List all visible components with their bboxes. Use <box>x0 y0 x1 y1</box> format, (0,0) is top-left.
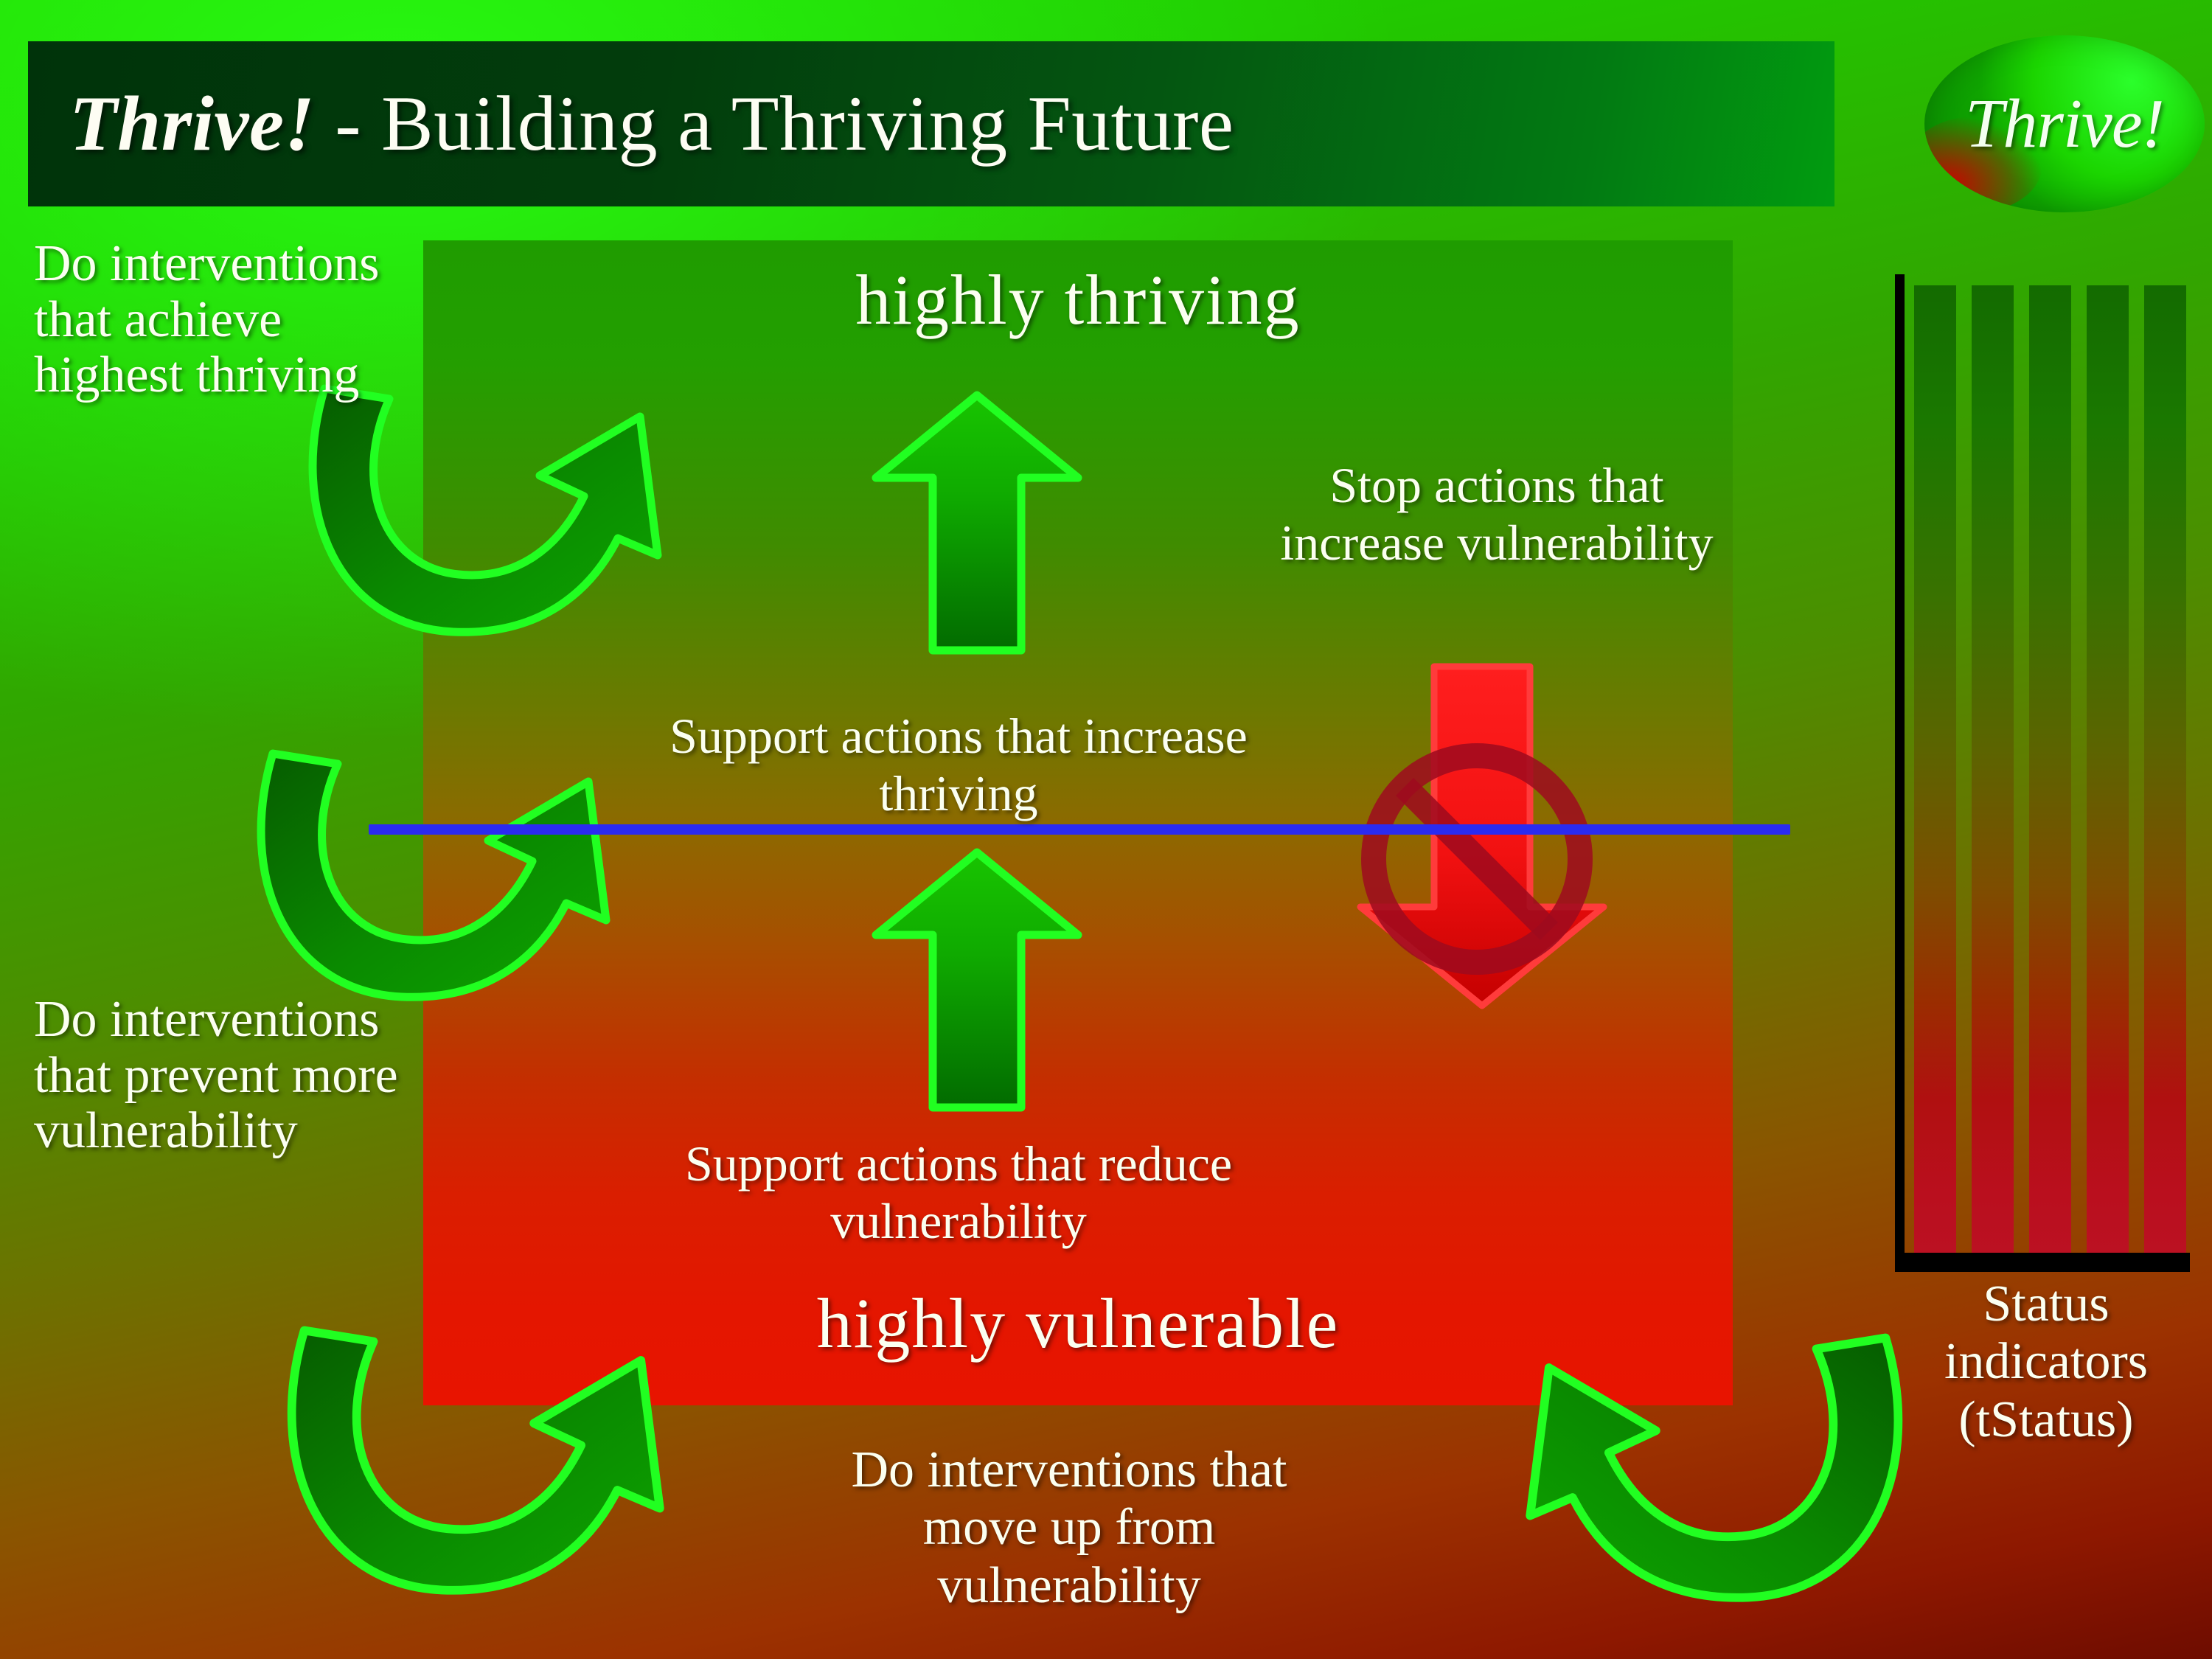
chart-y-axis <box>1895 274 1905 1262</box>
threshold-divider-line <box>369 824 1790 835</box>
no-entry-icon <box>1355 737 1599 981</box>
up-arrow-icon <box>870 848 1084 1113</box>
curved-u-arrow-icon <box>295 372 737 682</box>
status-indicators-caption: Status indicators (tStatus) <box>1888 1276 2205 1449</box>
label-stop-actions-increase-vulnerability: Stop actions that increase vulnerability <box>1246 457 1747 571</box>
page-title: Thrive! - Building a Thriving Future <box>28 79 1234 169</box>
status-bar <box>1972 285 2014 1253</box>
label-interventions-prevent-more-vulnerability: Do interventions that prevent more vulne… <box>34 992 403 1159</box>
status-bar <box>1914 285 1956 1253</box>
title-bar: Thrive! - Building a Thriving Future <box>28 41 1834 206</box>
label-support-increase-thriving: Support actions that increase thriving <box>649 708 1268 822</box>
up-arrow-icon <box>870 391 1084 656</box>
label-highly-vulnerable: highly vulnerable <box>423 1283 1733 1363</box>
label-support-reduce-vulnerability: Support actions that reduce vulnerabilit… <box>649 1135 1268 1250</box>
status-indicators-chart <box>1895 274 2190 1262</box>
thrive-logo: Thrive! <box>1924 35 2205 212</box>
label-highly-thriving: highly thriving <box>423 260 1733 340</box>
status-bar <box>2144 285 2186 1253</box>
chart-x-axis <box>1895 1253 2190 1272</box>
title-brand: Thrive! <box>69 80 315 167</box>
logo-label: Thrive! <box>1924 35 2205 212</box>
status-bar <box>2087 285 2129 1253</box>
label-interventions-move-up-from-vulnerability: Do interventions that move up from vulne… <box>804 1441 1335 1615</box>
label-interventions-achieve-highest-thriving: Do interventions that achieve highest th… <box>34 236 403 403</box>
slide-canvas: Thrive! - Building a Thriving Future Thr… <box>0 0 2212 1659</box>
status-bar <box>2029 285 2071 1253</box>
title-rest: - Building a Thriving Future <box>315 80 1234 167</box>
curved-u-arrow-icon <box>1445 1320 1917 1652</box>
